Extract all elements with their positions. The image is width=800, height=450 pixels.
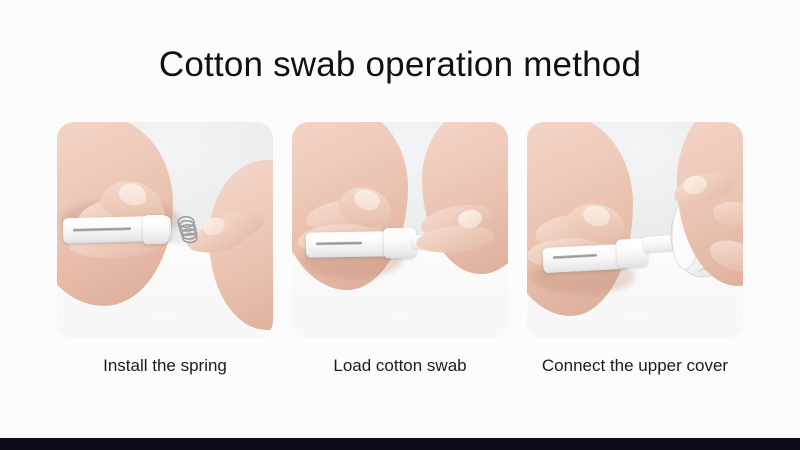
captions-row: Install the spring Load cotton swab Conn… — [57, 355, 743, 377]
bottom-bar — [0, 438, 800, 450]
step-caption-1: Install the spring — [57, 355, 273, 377]
step-caption-3: Connect the upper cover — [527, 355, 743, 377]
pen-body-collar — [143, 215, 170, 245]
steps-panel-row — [57, 122, 743, 338]
step-photo-1 — [57, 122, 273, 338]
spring-icon — [175, 214, 209, 244]
step-photo-2 — [292, 122, 508, 338]
infographic-page: Cotton swab operation method — [0, 0, 800, 450]
step-photo-3 — [527, 122, 743, 338]
step-caption-2: Load cotton swab — [292, 355, 508, 377]
page-title: Cotton swab operation method — [0, 44, 800, 86]
